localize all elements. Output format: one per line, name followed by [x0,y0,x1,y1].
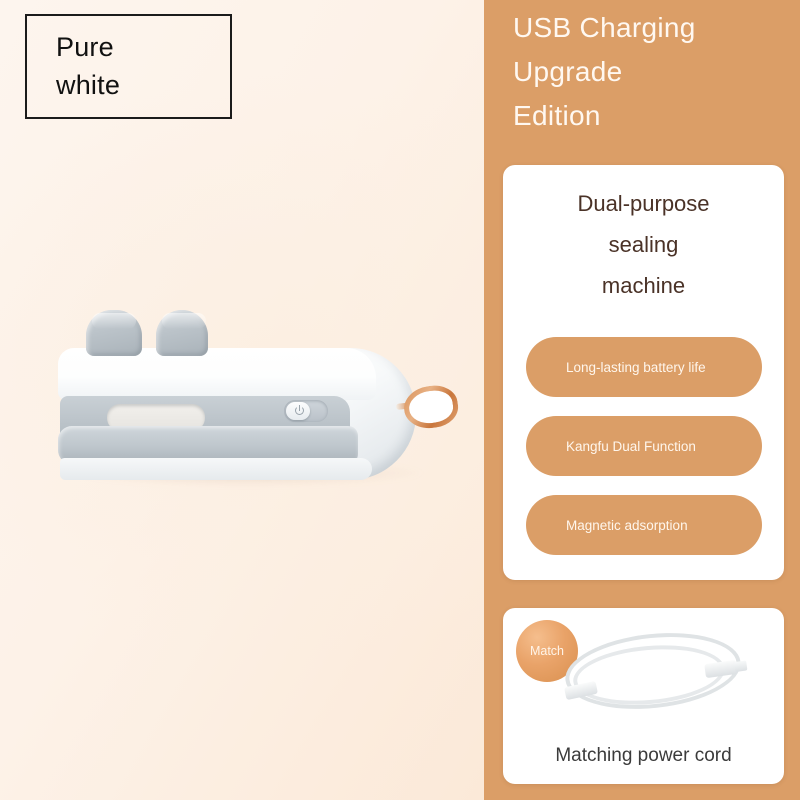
feature-badge: Kangfu Dual Function [526,416,762,476]
usb-power-cable-illustration [553,626,778,726]
sealing-machine-product-photo [52,300,482,520]
leather-wrist-strap [396,384,458,430]
power-icon-stem [299,405,300,411]
color-label-line-1: Pure [56,28,230,66]
power-slider-button[interactable] [284,400,328,422]
features-card: Dual-purpose sealing machine Long-lastin… [503,165,784,580]
features-title-line-3: machine [503,265,784,306]
product-image-canvas: Pure white [0,0,800,800]
right-feature-panel: USB Charging Upgrade Edition Dual-purpos… [484,0,800,800]
accessory-caption: Matching power cord [503,745,784,767]
strap-loop [401,382,460,431]
hero-title: USB Charging Upgrade Edition [513,6,789,138]
features-title-line-2: sealing [503,224,784,265]
pressure-knob-left-icon [86,310,142,356]
feature-badge-list: Long-lasting battery life Kangfu Dual Fu… [526,337,762,555]
features-title-line-1: Dual-purpose [503,183,784,224]
hero-title-line-1: USB Charging [513,6,789,50]
left-product-panel: Pure white [0,0,484,800]
hero-title-line-2: Upgrade [513,50,789,94]
feature-badge: Long-lasting battery life [526,337,762,397]
product-base-edge [60,458,372,480]
color-label-line-2: white [56,66,230,104]
color-variant-label-box: Pure white [25,14,232,119]
hero-title-line-3: Edition [513,94,789,138]
accessory-card: Match Matching power cord [503,608,784,784]
features-card-title: Dual-purpose sealing machine [503,183,784,306]
feature-badge: Magnetic adsorption [526,495,762,555]
pressure-knob-right-icon [156,310,208,356]
power-slider-thumb [286,402,310,420]
